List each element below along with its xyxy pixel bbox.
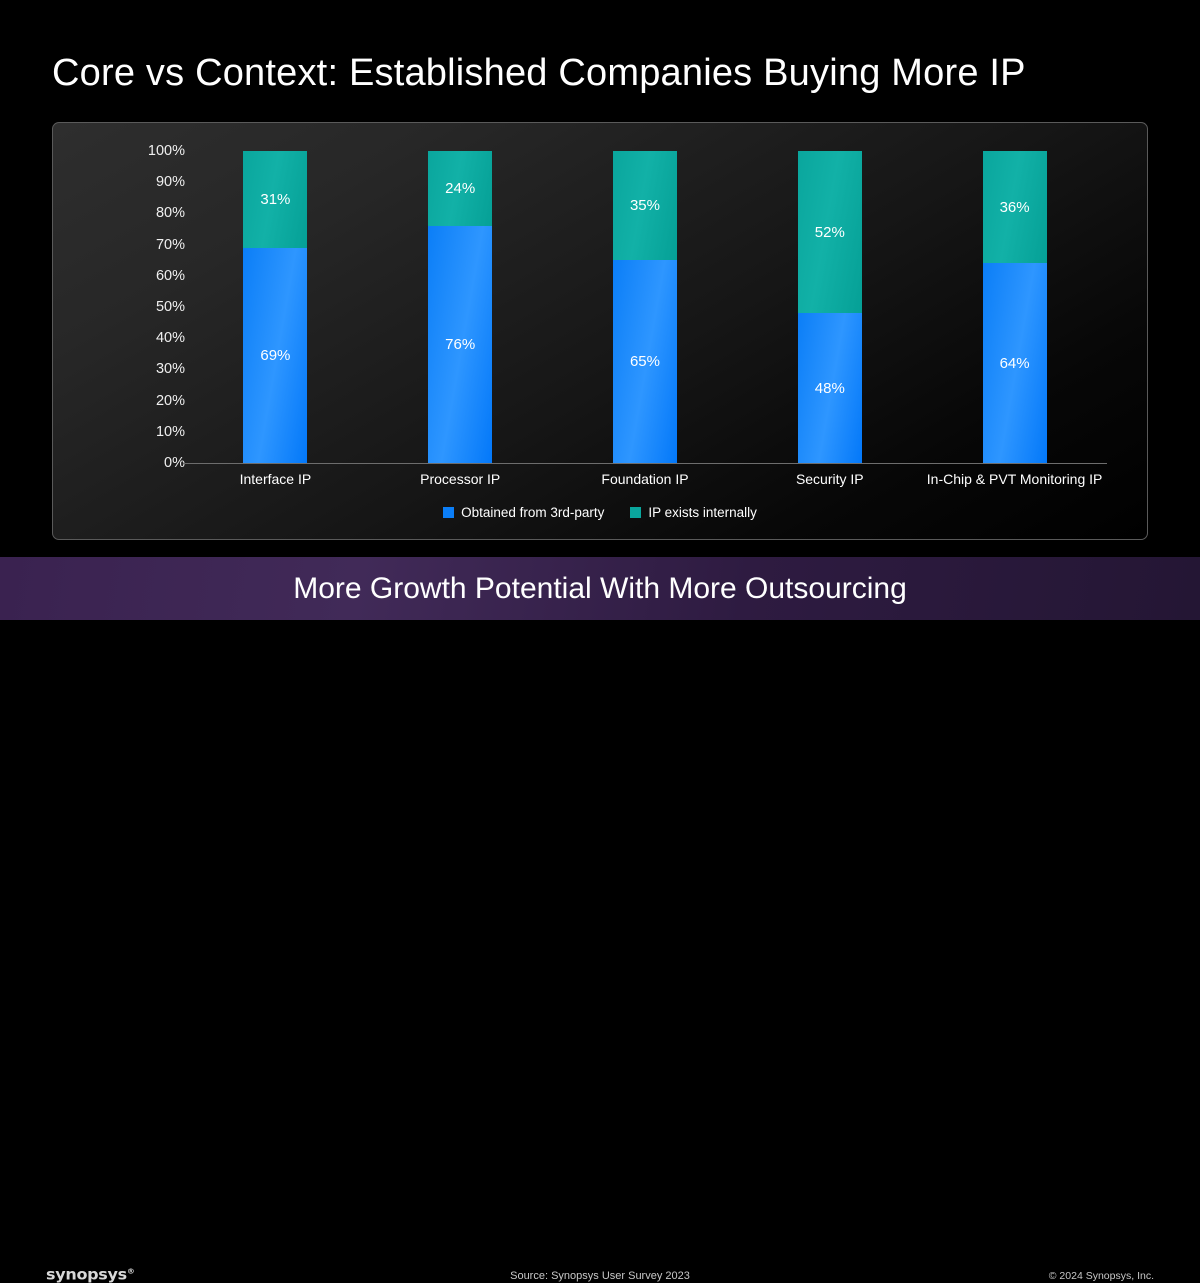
y-axis-tick: 80% <box>156 205 185 221</box>
chart-panel: 100%90%80%70%60%50%40%30%20%10%0% 31%69%… <box>52 122 1148 540</box>
y-axis-tick: 90% <box>156 174 185 190</box>
bar-segment-label: 35% <box>630 198 660 213</box>
legend-swatch-icon <box>630 507 641 518</box>
chart-legend: Obtained from 3rd-partyIP exists interna… <box>53 505 1147 520</box>
legend-label: Obtained from 3rd-party <box>461 505 604 520</box>
bar-segment-label: 31% <box>260 192 290 207</box>
x-axis-category-label: Security IP <box>737 471 922 487</box>
y-axis-tick: 60% <box>156 268 185 284</box>
bar-segment-third-party[interactable]: 76% <box>428 226 492 463</box>
y-axis-tick: 40% <box>156 330 185 346</box>
x-axis-categories: Interface IPProcessor IPFoundation IPSec… <box>183 471 1107 487</box>
legend-item[interactable]: Obtained from 3rd-party <box>443 505 604 520</box>
y-axis-tick: 30% <box>156 361 185 377</box>
bar-segment-label: 64% <box>1000 356 1030 371</box>
legend-item[interactable]: IP exists internally <box>630 505 757 520</box>
bar-segment-internal[interactable]: 24% <box>428 151 492 226</box>
x-axis-category-label: Foundation IP <box>553 471 738 487</box>
bar-segment-internal[interactable]: 35% <box>613 151 677 260</box>
x-axis-category-label: Interface IP <box>183 471 368 487</box>
bar-segment-third-party[interactable]: 69% <box>243 248 307 463</box>
y-axis-tick: 70% <box>156 237 185 253</box>
legend-label: IP exists internally <box>648 505 757 520</box>
bar-group: 36%64% <box>922 151 1107 463</box>
bar-segment-internal[interactable]: 52% <box>798 151 862 313</box>
bar-group: 31%69% <box>183 151 368 463</box>
bar-segment-label: 48% <box>815 381 845 396</box>
stacked-bar[interactable]: 52%48% <box>798 151 862 463</box>
x-axis-category-label: In-Chip & PVT Monitoring IP <box>922 471 1107 487</box>
y-axis: 100%90%80%70%60%50%40%30%20%10%0% <box>93 151 185 463</box>
bar-segment-third-party[interactable]: 48% <box>798 313 862 463</box>
stacked-bar[interactable]: 35%65% <box>613 151 677 463</box>
y-axis-tick: 0% <box>164 455 185 471</box>
bar-segment-label: 76% <box>445 337 475 352</box>
bar-segment-label: 65% <box>630 354 660 369</box>
bar-segment-internal[interactable]: 36% <box>983 151 1047 263</box>
bar-series-container: 31%69%24%76%35%65%52%48%36%64% <box>183 151 1107 463</box>
copyright-note: © 2024 Synopsys, Inc. <box>1049 1270 1154 1282</box>
bar-segment-label: 69% <box>260 348 290 363</box>
y-axis-tick: 20% <box>156 393 185 409</box>
bar-segment-internal[interactable]: 31% <box>243 151 307 248</box>
page-title: Core vs Context: Established Companies B… <box>52 52 1026 95</box>
y-axis-tick: 50% <box>156 299 185 315</box>
y-axis-tick: 100% <box>148 143 185 159</box>
bar-segment-third-party[interactable]: 64% <box>983 263 1047 463</box>
stacked-bar[interactable]: 24%76% <box>428 151 492 463</box>
bar-segment-label: 24% <box>445 181 475 196</box>
stacked-bar[interactable]: 36%64% <box>983 151 1047 463</box>
callout-banner: More Growth Potential With More Outsourc… <box>0 557 1200 620</box>
x-axis-category-label: Processor IP <box>368 471 553 487</box>
source-note: Source: Synopsys User Survey 2023 <box>0 1270 1200 1282</box>
bar-group: 24%76% <box>368 151 553 463</box>
chart-plot-wrapper: 100%90%80%70%60%50%40%30%20%10%0% 31%69%… <box>53 123 1147 539</box>
bar-group: 35%65% <box>553 151 738 463</box>
bar-segment-label: 36% <box>1000 200 1030 215</box>
bar-segment-third-party[interactable]: 65% <box>613 260 677 463</box>
stacked-bar[interactable]: 31%69% <box>243 151 307 463</box>
y-axis-tick: 10% <box>156 424 185 440</box>
callout-banner-text: More Growth Potential With More Outsourc… <box>293 572 907 606</box>
legend-swatch-icon <box>443 507 454 518</box>
slide-footer: synopsys® Source: Synopsys User Survey 2… <box>0 620 1200 675</box>
bar-group: 52%48% <box>737 151 922 463</box>
bar-segment-label: 52% <box>815 225 845 240</box>
x-axis-line <box>183 463 1107 464</box>
plot-area: 31%69%24%76%35%65%52%48%36%64% <box>183 151 1107 463</box>
